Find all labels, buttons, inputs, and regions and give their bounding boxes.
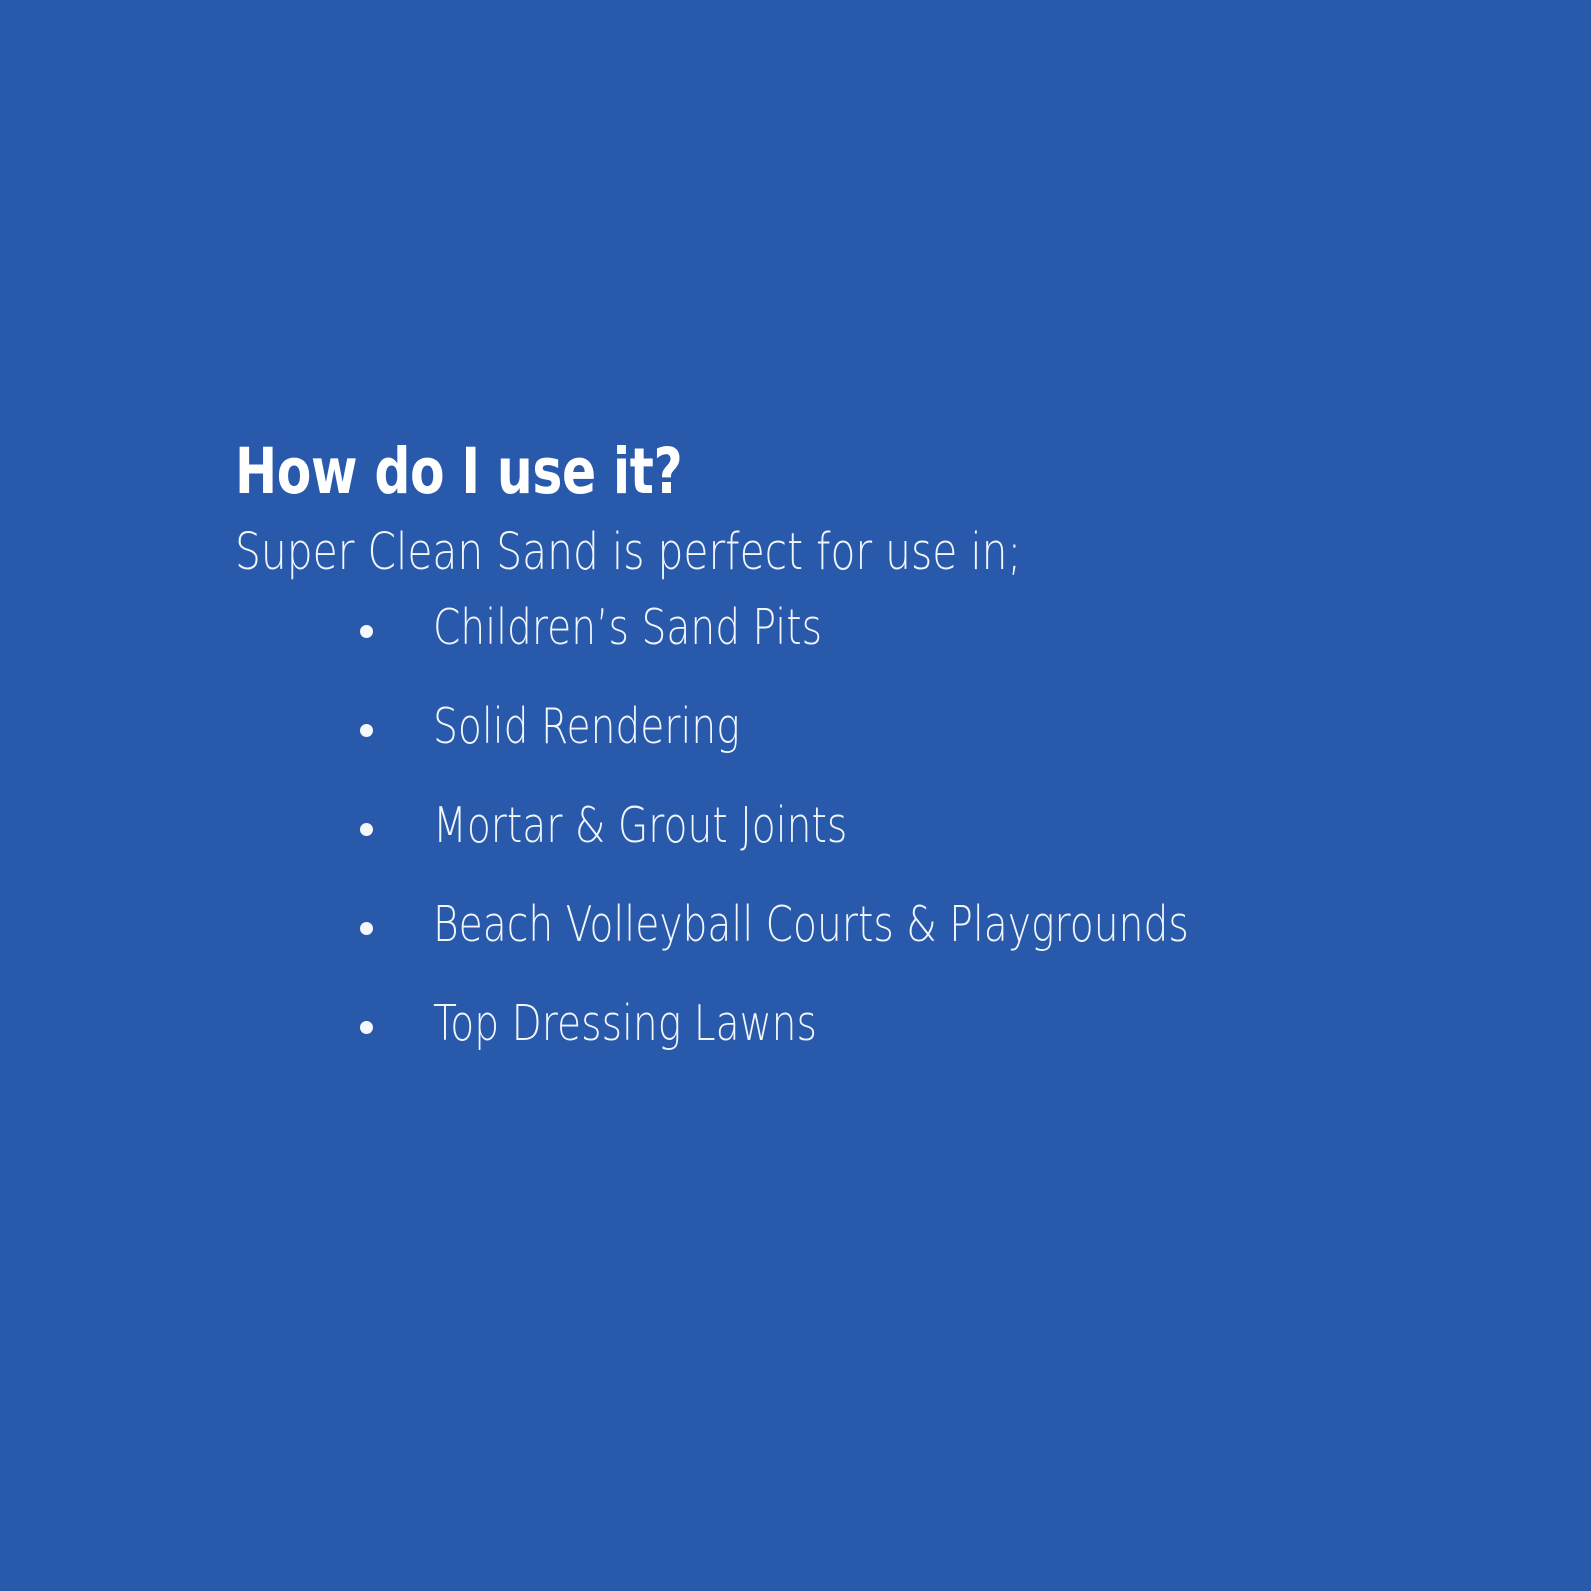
bullet-dot-icon xyxy=(360,823,373,836)
list-item-label: Children’s Sand Pits xyxy=(433,585,822,671)
subtitle-text: Super Clean Sand is perfect for use in; xyxy=(235,523,1163,583)
content-block: How do I use it? Super Clean Sand is per… xyxy=(235,437,1395,583)
list-item: Beach Volleyball Courts & Playgrounds xyxy=(235,882,1395,981)
page-title: How do I use it? xyxy=(235,437,1163,507)
list-item-label: Solid Rendering xyxy=(433,684,740,770)
usage-bullet-list: Children’s Sand Pits Solid Rendering Mor… xyxy=(235,585,1395,1080)
list-item: Mortar & Grout Joints xyxy=(235,783,1395,882)
bullet-dot-icon xyxy=(360,922,373,935)
bullet-dot-icon xyxy=(360,1021,373,1034)
list-item-label: Mortar & Grout Joints xyxy=(433,783,847,869)
list-item-label: Beach Volleyball Courts & Playgrounds xyxy=(433,882,1189,968)
list-item: Children’s Sand Pits xyxy=(235,585,1395,684)
list-item: Top Dressing Lawns xyxy=(235,981,1395,1080)
list-item: Solid Rendering xyxy=(235,684,1395,783)
slide-canvas: How do I use it? Super Clean Sand is per… xyxy=(0,0,1591,1591)
bullet-dot-icon xyxy=(360,625,373,638)
bullet-dot-icon xyxy=(360,724,373,737)
list-item-label: Top Dressing Lawns xyxy=(433,981,817,1067)
